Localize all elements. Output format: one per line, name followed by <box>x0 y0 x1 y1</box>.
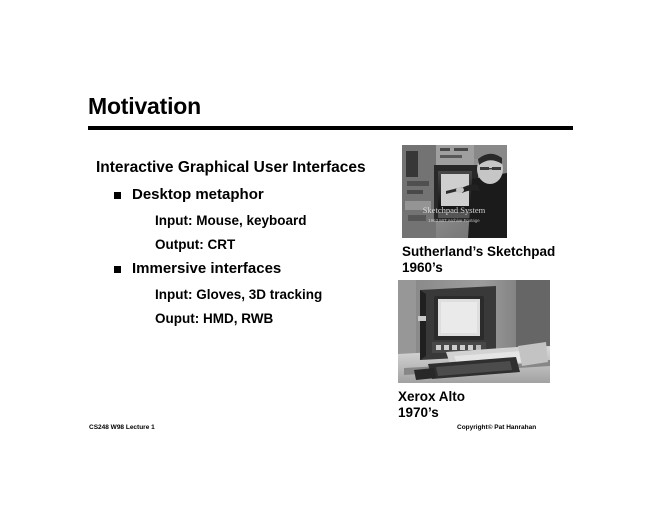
caption-line-1: Sutherland’s Sketchpad <box>402 244 555 260</box>
caption-line-2: 1970’s <box>398 405 465 421</box>
square-bullet-icon <box>114 192 121 199</box>
sutherland-sketchpad-photo: Sketchpad System 1963 MIT Archive Footag… <box>402 145 507 238</box>
sub-item-input-gloves: Input: Gloves, 3D tracking <box>96 287 396 302</box>
bullet-label: Immersive interfaces <box>132 260 281 277</box>
sketchpad-photo-graphic: Sketchpad System 1963 MIT Archive Footag… <box>402 145 507 238</box>
bullet-label: Desktop metaphor <box>132 186 264 203</box>
caption-line-1: Xerox Alto <box>398 389 465 405</box>
slide-body: Interactive Graphical User Interfaces De… <box>96 160 396 335</box>
slide-canvas: Motivation Interactive Graphical User In… <box>0 0 660 510</box>
xerox-alto-caption: Xerox Alto 1970’s <box>398 389 465 420</box>
sutherland-sketchpad-caption: Sutherland’s Sketchpad 1960’s <box>402 244 555 275</box>
footer-course-label: CS248 W98 Lecture 1 <box>89 424 155 431</box>
bullet-immersive-interfaces: Immersive interfaces <box>96 261 396 277</box>
page-title: Motivation <box>88 92 201 120</box>
body-heading: Interactive Graphical User Interfaces <box>96 160 396 176</box>
alto-photo-graphic <box>398 280 550 383</box>
sub-item-output-crt: Output: CRT <box>96 237 396 252</box>
bullet-desktop-metaphor: Desktop metaphor <box>96 187 396 203</box>
xerox-alto-photo <box>398 280 550 383</box>
sub-item-output-hmd: Ouput: HMD, RWB <box>96 311 396 326</box>
sub-item-input-mouse: Input: Mouse, keyboard <box>96 213 396 228</box>
footer-copyright: Copyright© Pat Hanrahan <box>457 424 536 431</box>
caption-line-2: 1960’s <box>402 260 555 276</box>
title-divider <box>88 126 573 130</box>
square-bullet-icon <box>114 266 121 273</box>
